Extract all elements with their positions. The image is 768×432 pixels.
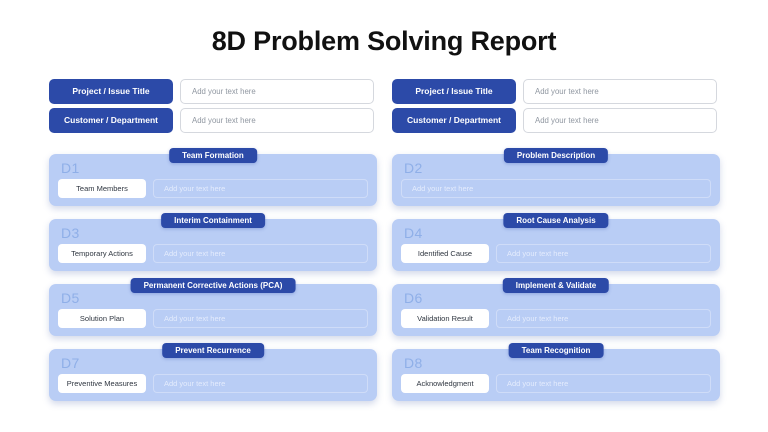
- discipline-title-d6: Implement & Validate: [503, 278, 609, 293]
- discipline-card-d7: Prevent Recurrence D7 Preventive Measure…: [49, 349, 377, 401]
- discipline-card-d6: Implement & Validate D6 Validation Resul…: [392, 284, 720, 336]
- discipline-code-d7: D7: [61, 355, 80, 371]
- discipline-code-d6: D6: [404, 290, 423, 306]
- header-row-project-left: Project / Issue Title Add your text here: [49, 79, 374, 104]
- header-row-customer-right: Customer / Department Add your text here: [392, 108, 717, 133]
- discipline-input-d6[interactable]: Add your text here: [496, 309, 711, 328]
- discipline-code-d1: D1: [61, 160, 80, 176]
- discipline-body-d2: Add your text here: [401, 179, 711, 198]
- header-row-project-right: Project / Issue Title Add your text here: [392, 79, 717, 104]
- discipline-body-d3: Temporary Actions Add your text here: [58, 244, 368, 263]
- discipline-code-d3: D3: [61, 225, 80, 241]
- discipline-body-d1: Team Members Add your text here: [58, 179, 368, 198]
- discipline-body-d7: Preventive Measures Add your text here: [58, 374, 368, 393]
- discipline-title-d5: Permanent Corrective Actions (PCA): [131, 278, 296, 293]
- discipline-input-d3[interactable]: Add your text here: [153, 244, 368, 263]
- discipline-body-d5: Solution Plan Add your text here: [58, 309, 368, 328]
- discipline-input-d4[interactable]: Add your text here: [496, 244, 711, 263]
- discipline-input-d2[interactable]: Add your text here: [401, 179, 711, 198]
- header-label-customer-left: Customer / Department: [49, 108, 173, 133]
- discipline-code-d5: D5: [61, 290, 80, 306]
- discipline-body-d4: Identified Cause Add your text here: [401, 244, 711, 263]
- discipline-title-d1: Team Formation: [169, 148, 257, 163]
- discipline-chip-d8[interactable]: Acknowledgment: [401, 374, 489, 393]
- header-row-customer-left: Customer / Department Add your text here: [49, 108, 374, 133]
- discipline-chip-d7[interactable]: Preventive Measures: [58, 374, 146, 393]
- slide-canvas: 8D Problem Solving Report Project / Issu…: [0, 0, 768, 432]
- discipline-title-d8: Team Recognition: [509, 343, 604, 358]
- discipline-card-d2: Problem Description D2 Add your text her…: [392, 154, 720, 206]
- discipline-card-d3: Interim Containment D3 Temporary Actions…: [49, 219, 377, 271]
- discipline-input-d5[interactable]: Add your text here: [153, 309, 368, 328]
- discipline-chip-d1[interactable]: Team Members: [58, 179, 146, 198]
- discipline-body-d8: Acknowledgment Add your text here: [401, 374, 711, 393]
- discipline-card-d8: Team Recognition D8 Acknowledgment Add y…: [392, 349, 720, 401]
- discipline-title-d3: Interim Containment: [161, 213, 265, 228]
- discipline-title-d7: Prevent Recurrence: [162, 343, 264, 358]
- discipline-input-d8[interactable]: Add your text here: [496, 374, 711, 393]
- discipline-card-d4: Root Cause Analysis D4 Identified Cause …: [392, 219, 720, 271]
- discipline-code-d4: D4: [404, 225, 423, 241]
- header-input-customer-left[interactable]: Add your text here: [180, 108, 374, 133]
- discipline-code-d8: D8: [404, 355, 423, 371]
- header-label-project-right: Project / Issue Title: [392, 79, 516, 104]
- discipline-chip-d6[interactable]: Validation Result: [401, 309, 489, 328]
- header-label-project-left: Project / Issue Title: [49, 79, 173, 104]
- discipline-input-d7[interactable]: Add your text here: [153, 374, 368, 393]
- page-title: 8D Problem Solving Report: [0, 26, 768, 57]
- discipline-code-d2: D2: [404, 160, 423, 176]
- discipline-body-d6: Validation Result Add your text here: [401, 309, 711, 328]
- header-input-project-left[interactable]: Add your text here: [180, 79, 374, 104]
- discipline-chip-d3[interactable]: Temporary Actions: [58, 244, 146, 263]
- header-label-customer-right: Customer / Department: [392, 108, 516, 133]
- discipline-title-d4: Root Cause Analysis: [503, 213, 608, 228]
- discipline-chip-d4[interactable]: Identified Cause: [401, 244, 489, 263]
- header-input-customer-right[interactable]: Add your text here: [523, 108, 717, 133]
- discipline-card-d1: Team Formation D1 Team Members Add your …: [49, 154, 377, 206]
- discipline-input-d1[interactable]: Add your text here: [153, 179, 368, 198]
- discipline-card-d5: Permanent Corrective Actions (PCA) D5 So…: [49, 284, 377, 336]
- discipline-title-d2: Problem Description: [504, 148, 608, 163]
- header-input-project-right[interactable]: Add your text here: [523, 79, 717, 104]
- discipline-chip-d5[interactable]: Solution Plan: [58, 309, 146, 328]
